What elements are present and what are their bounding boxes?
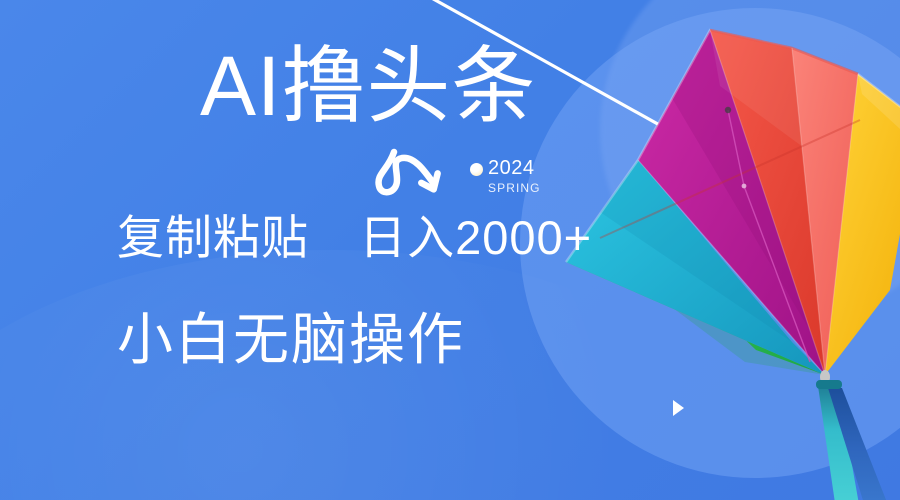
kite-tail <box>816 380 890 500</box>
badge-season: SPRING <box>488 182 541 194</box>
season-badge: 2024 SPRING <box>470 158 541 194</box>
subtitle-line: 复制粘贴 日入2000+ <box>117 214 592 261</box>
play-triangle-icon[interactable] <box>673 400 684 416</box>
page-title: AI撸头条 <box>200 44 536 128</box>
rainbow-kite <box>560 0 900 500</box>
tagline: 小白无脑操作 <box>117 312 465 368</box>
badge-year: 2024 <box>488 158 541 178</box>
kite-tail-collar <box>816 380 842 389</box>
subtitle-left: 复制粘贴 <box>117 211 309 264</box>
kite-bridle-knot-mid <box>742 184 747 189</box>
kite-svg <box>560 0 900 500</box>
poster-canvas: AI撸头条 2024 SPRING 复制粘贴 日入2000+ 小白无脑操作 <box>0 0 900 500</box>
subtitle-right: 日入2000+ <box>359 211 592 264</box>
kite-bridle-knot-top <box>725 107 731 113</box>
dot-icon <box>470 163 483 176</box>
season-badge-text: 2024 SPRING <box>488 158 541 194</box>
